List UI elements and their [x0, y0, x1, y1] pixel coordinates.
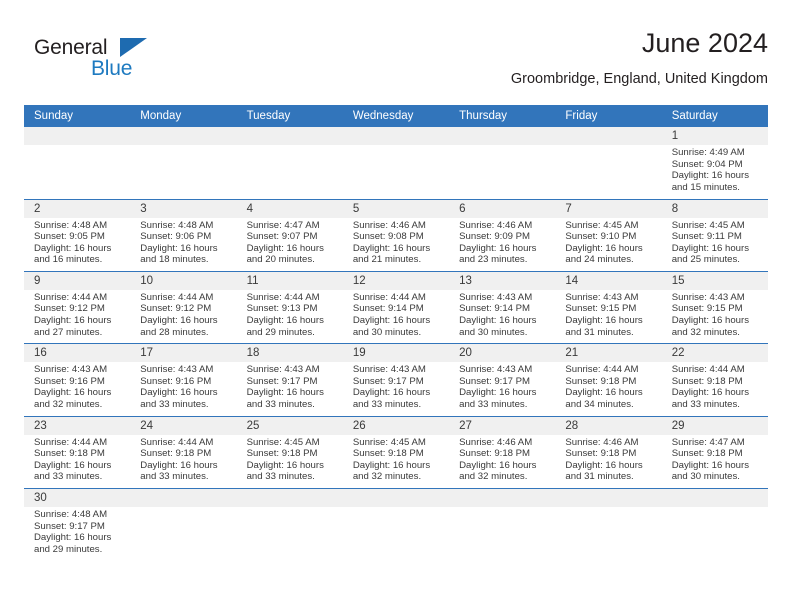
day-number: 29	[662, 417, 768, 435]
daylight-text: Daylight: 16 hours and 34 minutes.	[565, 387, 655, 410]
day-details: Sunrise: 4:43 AMSunset: 9:14 PMDaylight:…	[449, 290, 555, 343]
calendar-day-cell[interactable]: 27Sunrise: 4:46 AMSunset: 9:18 PMDayligh…	[449, 416, 555, 488]
calendar-day-cell[interactable]: 22Sunrise: 4:44 AMSunset: 9:18 PMDayligh…	[662, 344, 768, 416]
sunrise-text: Sunrise: 4:44 AM	[247, 292, 337, 304]
calendar-day-cell[interactable]: 8Sunrise: 4:45 AMSunset: 9:11 PMDaylight…	[662, 199, 768, 271]
logo-text-blue: Blue	[91, 57, 132, 81]
sunset-text: Sunset: 9:18 PM	[247, 448, 337, 460]
day-number: 25	[237, 417, 343, 435]
sunset-text: Sunset: 9:14 PM	[459, 303, 549, 315]
daylight-text: Daylight: 16 hours and 31 minutes.	[565, 315, 655, 338]
daylight-text: Daylight: 16 hours and 29 minutes.	[34, 532, 124, 555]
daylight-text: Daylight: 16 hours and 33 minutes.	[247, 387, 337, 410]
day-number: 23	[24, 417, 130, 435]
day-details	[662, 507, 768, 557]
day-number: 4	[237, 200, 343, 218]
day-number: 22	[662, 344, 768, 362]
day-number: 14	[555, 272, 661, 290]
sunset-text: Sunset: 9:15 PM	[672, 303, 762, 315]
sunset-text: Sunset: 9:05 PM	[34, 231, 124, 243]
daylight-text: Daylight: 16 hours and 18 minutes.	[140, 243, 230, 266]
daylight-text: Daylight: 16 hours and 32 minutes.	[459, 460, 549, 483]
day-number	[130, 489, 236, 507]
sunrise-text: Sunrise: 4:48 AM	[140, 220, 230, 232]
sunset-text: Sunset: 9:15 PM	[565, 303, 655, 315]
page-subtitle-location: Groombridge, England, United Kingdom	[511, 70, 768, 88]
day-details: Sunrise: 4:46 AMSunset: 9:08 PMDaylight:…	[343, 218, 449, 271]
sunset-text: Sunset: 9:09 PM	[459, 231, 549, 243]
sunset-text: Sunset: 9:13 PM	[247, 303, 337, 315]
day-number: 10	[130, 272, 236, 290]
day-number	[662, 489, 768, 507]
day-details: Sunrise: 4:46 AMSunset: 9:09 PMDaylight:…	[449, 218, 555, 271]
day-details: Sunrise: 4:44 AMSunset: 9:12 PMDaylight:…	[130, 290, 236, 343]
daylight-text: Daylight: 16 hours and 33 minutes.	[34, 460, 124, 483]
sunrise-text: Sunrise: 4:43 AM	[140, 364, 230, 376]
day-number: 17	[130, 344, 236, 362]
day-details: Sunrise: 4:46 AMSunset: 9:18 PMDaylight:…	[449, 435, 555, 488]
day-details	[555, 507, 661, 557]
sunset-text: Sunset: 9:04 PM	[672, 159, 762, 171]
calendar-day-cell[interactable]: 5Sunrise: 4:46 AMSunset: 9:08 PMDaylight…	[343, 199, 449, 271]
calendar-day-cell[interactable]: 30Sunrise: 4:48 AMSunset: 9:17 PMDayligh…	[24, 489, 130, 569]
sunrise-text: Sunrise: 4:44 AM	[672, 364, 762, 376]
sunrise-text: Sunrise: 4:43 AM	[672, 292, 762, 304]
day-number: 27	[449, 417, 555, 435]
sunrise-text: Sunrise: 4:46 AM	[459, 437, 549, 449]
calendar-cell-empty	[555, 489, 661, 569]
daylight-text: Daylight: 16 hours and 20 minutes.	[247, 243, 337, 266]
sunset-text: Sunset: 9:12 PM	[140, 303, 230, 315]
weekday-header-thursday: Thursday	[449, 105, 555, 127]
day-number: 9	[24, 272, 130, 290]
daylight-text: Daylight: 16 hours and 31 minutes.	[565, 460, 655, 483]
sunrise-text: Sunrise: 4:46 AM	[459, 220, 549, 232]
day-number: 16	[24, 344, 130, 362]
calendar-week-row: 9Sunrise: 4:44 AMSunset: 9:12 PMDaylight…	[24, 271, 768, 343]
day-details	[449, 145, 555, 195]
sunrise-text: Sunrise: 4:48 AM	[34, 220, 124, 232]
calendar-day-cell[interactable]: 15Sunrise: 4:43 AMSunset: 9:15 PMDayligh…	[662, 271, 768, 343]
daylight-text: Daylight: 16 hours and 27 minutes.	[34, 315, 124, 338]
calendar-day-cell[interactable]: 14Sunrise: 4:43 AMSunset: 9:15 PMDayligh…	[555, 271, 661, 343]
daylight-text: Daylight: 16 hours and 33 minutes.	[459, 387, 549, 410]
sunset-text: Sunset: 9:14 PM	[353, 303, 443, 315]
calendar-day-cell[interactable]: 4Sunrise: 4:47 AMSunset: 9:07 PMDaylight…	[237, 199, 343, 271]
sunset-text: Sunset: 9:08 PM	[353, 231, 443, 243]
day-number: 3	[130, 200, 236, 218]
daylight-text: Daylight: 16 hours and 25 minutes.	[672, 243, 762, 266]
day-details: Sunrise: 4:45 AMSunset: 9:18 PMDaylight:…	[343, 435, 449, 488]
daylight-text: Daylight: 16 hours and 30 minutes.	[459, 315, 549, 338]
sunset-text: Sunset: 9:18 PM	[565, 448, 655, 460]
day-number: 13	[449, 272, 555, 290]
day-details: Sunrise: 4:43 AMSunset: 9:15 PMDaylight:…	[662, 290, 768, 343]
calendar-cell-empty	[237, 127, 343, 199]
daylight-text: Daylight: 16 hours and 33 minutes.	[353, 387, 443, 410]
day-details: Sunrise: 4:45 AMSunset: 9:10 PMDaylight:…	[555, 218, 661, 271]
weekday-header-monday: Monday	[130, 105, 236, 127]
sunrise-text: Sunrise: 4:46 AM	[565, 437, 655, 449]
sunset-text: Sunset: 9:17 PM	[247, 376, 337, 388]
day-details: Sunrise: 4:44 AMSunset: 9:14 PMDaylight:…	[343, 290, 449, 343]
sunset-text: Sunset: 9:11 PM	[672, 231, 762, 243]
calendar-day-cell[interactable]: 12Sunrise: 4:44 AMSunset: 9:14 PMDayligh…	[343, 271, 449, 343]
day-number	[237, 489, 343, 507]
calendar-cell-empty	[662, 489, 768, 569]
day-details	[343, 507, 449, 557]
sunrise-text: Sunrise: 4:46 AM	[353, 220, 443, 232]
calendar-day-cell[interactable]: 28Sunrise: 4:46 AMSunset: 9:18 PMDayligh…	[555, 416, 661, 488]
daylight-text: Daylight: 16 hours and 33 minutes.	[672, 387, 762, 410]
calendar-cell-empty	[24, 127, 130, 199]
day-details	[130, 507, 236, 557]
day-details: Sunrise: 4:48 AMSunset: 9:17 PMDaylight:…	[24, 507, 130, 560]
sunrise-text: Sunrise: 4:47 AM	[672, 437, 762, 449]
daylight-text: Daylight: 16 hours and 21 minutes.	[353, 243, 443, 266]
sunrise-text: Sunrise: 4:45 AM	[247, 437, 337, 449]
sunrise-text: Sunrise: 4:45 AM	[353, 437, 443, 449]
day-number: 26	[343, 417, 449, 435]
calendar-day-cell[interactable]: 13Sunrise: 4:43 AMSunset: 9:14 PMDayligh…	[449, 271, 555, 343]
calendar-day-cell[interactable]: 16Sunrise: 4:43 AMSunset: 9:16 PMDayligh…	[24, 344, 130, 416]
day-details: Sunrise: 4:43 AMSunset: 9:17 PMDaylight:…	[449, 362, 555, 415]
sunset-text: Sunset: 9:16 PM	[140, 376, 230, 388]
sunrise-text: Sunrise: 4:44 AM	[34, 437, 124, 449]
daylight-text: Daylight: 16 hours and 32 minutes.	[353, 460, 443, 483]
day-number: 5	[343, 200, 449, 218]
calendar-day-cell[interactable]: 23Sunrise: 4:44 AMSunset: 9:18 PMDayligh…	[24, 416, 130, 488]
calendar-cell-empty	[237, 489, 343, 569]
day-number: 24	[130, 417, 236, 435]
sunset-text: Sunset: 9:18 PM	[140, 448, 230, 460]
calendar-cell-empty	[449, 489, 555, 569]
day-number	[449, 127, 555, 145]
sunset-text: Sunset: 9:17 PM	[353, 376, 443, 388]
daylight-text: Daylight: 16 hours and 30 minutes.	[353, 315, 443, 338]
sunrise-text: Sunrise: 4:43 AM	[459, 292, 549, 304]
day-number	[237, 127, 343, 145]
page-header: General Blue June 2024 Groombridge, Engl…	[24, 26, 768, 100]
calendar-week-row: 16Sunrise: 4:43 AMSunset: 9:16 PMDayligh…	[24, 344, 768, 416]
day-details	[555, 145, 661, 195]
calendar-cell-empty	[343, 127, 449, 199]
daylight-text: Daylight: 16 hours and 32 minutes.	[672, 315, 762, 338]
sunset-text: Sunset: 9:07 PM	[247, 231, 337, 243]
day-number	[343, 127, 449, 145]
day-details: Sunrise: 4:44 AMSunset: 9:18 PMDaylight:…	[662, 362, 768, 415]
sunset-text: Sunset: 9:18 PM	[565, 376, 655, 388]
calendar-day-cell[interactable]: 7Sunrise: 4:45 AMSunset: 9:10 PMDaylight…	[555, 199, 661, 271]
sunset-text: Sunset: 9:10 PM	[565, 231, 655, 243]
sunrise-text: Sunrise: 4:44 AM	[34, 292, 124, 304]
sunset-text: Sunset: 9:16 PM	[34, 376, 124, 388]
calendar-day-cell[interactable]: 18Sunrise: 4:43 AMSunset: 9:17 PMDayligh…	[237, 344, 343, 416]
calendar-day-cell[interactable]: 19Sunrise: 4:43 AMSunset: 9:17 PMDayligh…	[343, 344, 449, 416]
day-details	[343, 145, 449, 195]
day-details: Sunrise: 4:43 AMSunset: 9:17 PMDaylight:…	[343, 362, 449, 415]
day-details: Sunrise: 4:45 AMSunset: 9:18 PMDaylight:…	[237, 435, 343, 488]
sunset-text: Sunset: 9:17 PM	[459, 376, 549, 388]
day-details: Sunrise: 4:47 AMSunset: 9:18 PMDaylight:…	[662, 435, 768, 488]
logo-triangle-icon	[120, 38, 147, 57]
sunrise-text: Sunrise: 4:43 AM	[34, 364, 124, 376]
daylight-text: Daylight: 16 hours and 30 minutes.	[672, 460, 762, 483]
calendar-day-cell[interactable]: 9Sunrise: 4:44 AMSunset: 9:12 PMDaylight…	[24, 271, 130, 343]
day-details: Sunrise: 4:43 AMSunset: 9:17 PMDaylight:…	[237, 362, 343, 415]
calendar-header-row-group: Sunday Monday Tuesday Wednesday Thursday…	[24, 105, 768, 127]
weekday-header-tuesday: Tuesday	[237, 105, 343, 127]
daylight-text: Daylight: 16 hours and 28 minutes.	[140, 315, 230, 338]
sunset-text: Sunset: 9:06 PM	[140, 231, 230, 243]
calendar-day-cell[interactable]: 26Sunrise: 4:45 AMSunset: 9:18 PMDayligh…	[343, 416, 449, 488]
daylight-text: Daylight: 16 hours and 16 minutes.	[34, 243, 124, 266]
sunrise-text: Sunrise: 4:47 AM	[247, 220, 337, 232]
calendar-week-row: 1Sunrise: 4:49 AMSunset: 9:04 PMDaylight…	[24, 127, 768, 199]
sunset-text: Sunset: 9:18 PM	[672, 376, 762, 388]
weekday-header-saturday: Saturday	[662, 105, 768, 127]
sunset-text: Sunset: 9:18 PM	[34, 448, 124, 460]
calendar-week-row: 30Sunrise: 4:48 AMSunset: 9:17 PMDayligh…	[24, 489, 768, 569]
day-number: 8	[662, 200, 768, 218]
daylight-text: Daylight: 16 hours and 33 minutes.	[140, 460, 230, 483]
day-number: 2	[24, 200, 130, 218]
day-details: Sunrise: 4:44 AMSunset: 9:18 PMDaylight:…	[130, 435, 236, 488]
day-number: 6	[449, 200, 555, 218]
sunrise-text: Sunrise: 4:43 AM	[459, 364, 549, 376]
day-number: 21	[555, 344, 661, 362]
sunset-text: Sunset: 9:18 PM	[459, 448, 549, 460]
calendar-day-cell[interactable]: 1Sunrise: 4:49 AMSunset: 9:04 PMDaylight…	[662, 127, 768, 199]
sunrise-text: Sunrise: 4:43 AM	[247, 364, 337, 376]
day-number: 18	[237, 344, 343, 362]
calendar-cell-empty	[343, 489, 449, 569]
calendar-day-cell[interactable]: 11Sunrise: 4:44 AMSunset: 9:13 PMDayligh…	[237, 271, 343, 343]
day-details: Sunrise: 4:46 AMSunset: 9:18 PMDaylight:…	[555, 435, 661, 488]
page-title: June 2024	[642, 26, 768, 60]
day-number	[449, 489, 555, 507]
day-details: Sunrise: 4:45 AMSunset: 9:11 PMDaylight:…	[662, 218, 768, 271]
day-number	[343, 489, 449, 507]
daylight-text: Daylight: 16 hours and 32 minutes.	[34, 387, 124, 410]
calendar-day-cell[interactable]: 20Sunrise: 4:43 AMSunset: 9:17 PMDayligh…	[449, 344, 555, 416]
general-blue-logo[interactable]: General Blue	[34, 36, 174, 92]
calendar-day-cell[interactable]: 29Sunrise: 4:47 AMSunset: 9:18 PMDayligh…	[662, 416, 768, 488]
day-details: Sunrise: 4:48 AMSunset: 9:05 PMDaylight:…	[24, 218, 130, 271]
day-details	[449, 507, 555, 557]
sunset-text: Sunset: 9:18 PM	[353, 448, 443, 460]
day-details: Sunrise: 4:44 AMSunset: 9:13 PMDaylight:…	[237, 290, 343, 343]
day-number	[555, 489, 661, 507]
day-number	[555, 127, 661, 145]
calendar-page: General Blue June 2024 Groombridge, Engl…	[0, 0, 792, 612]
calendar-day-cell[interactable]: 3Sunrise: 4:48 AMSunset: 9:06 PMDaylight…	[130, 199, 236, 271]
day-details: Sunrise: 4:43 AMSunset: 9:16 PMDaylight:…	[24, 362, 130, 415]
calendar-day-cell[interactable]: 17Sunrise: 4:43 AMSunset: 9:16 PMDayligh…	[130, 344, 236, 416]
day-number	[130, 127, 236, 145]
day-number	[24, 127, 130, 145]
day-number: 15	[662, 272, 768, 290]
day-number: 7	[555, 200, 661, 218]
day-number: 20	[449, 344, 555, 362]
daylight-text: Daylight: 16 hours and 33 minutes.	[247, 460, 337, 483]
sunrise-text: Sunrise: 4:44 AM	[353, 292, 443, 304]
sunrise-text: Sunrise: 4:45 AM	[565, 220, 655, 232]
day-number: 19	[343, 344, 449, 362]
weekday-header-wednesday: Wednesday	[343, 105, 449, 127]
day-number: 11	[237, 272, 343, 290]
sunrise-text: Sunrise: 4:44 AM	[140, 292, 230, 304]
calendar-day-cell[interactable]: 10Sunrise: 4:44 AMSunset: 9:12 PMDayligh…	[130, 271, 236, 343]
day-details: Sunrise: 4:48 AMSunset: 9:06 PMDaylight:…	[130, 218, 236, 271]
sunset-text: Sunset: 9:17 PM	[34, 521, 124, 533]
daylight-text: Daylight: 16 hours and 24 minutes.	[565, 243, 655, 266]
daylight-text: Daylight: 16 hours and 29 minutes.	[247, 315, 337, 338]
calendar-day-cell[interactable]: 6Sunrise: 4:46 AMSunset: 9:09 PMDaylight…	[449, 199, 555, 271]
sunrise-text: Sunrise: 4:43 AM	[565, 292, 655, 304]
day-details: Sunrise: 4:43 AMSunset: 9:15 PMDaylight:…	[555, 290, 661, 343]
sunrise-text: Sunrise: 4:48 AM	[34, 509, 124, 521]
calendar-day-cell[interactable]: 21Sunrise: 4:44 AMSunset: 9:18 PMDayligh…	[555, 344, 661, 416]
day-number: 1	[662, 127, 768, 145]
daylight-text: Daylight: 16 hours and 15 minutes.	[672, 170, 762, 193]
day-details: Sunrise: 4:49 AMSunset: 9:04 PMDaylight:…	[662, 145, 768, 198]
day-details: Sunrise: 4:43 AMSunset: 9:16 PMDaylight:…	[130, 362, 236, 415]
weekday-header-friday: Friday	[555, 105, 661, 127]
calendar-day-cell[interactable]: 2Sunrise: 4:48 AMSunset: 9:05 PMDaylight…	[24, 199, 130, 271]
sunset-text: Sunset: 9:18 PM	[672, 448, 762, 460]
calendar-day-cell[interactable]: 25Sunrise: 4:45 AMSunset: 9:18 PMDayligh…	[237, 416, 343, 488]
sunrise-text: Sunrise: 4:49 AM	[672, 147, 762, 159]
sunrise-text: Sunrise: 4:43 AM	[353, 364, 443, 376]
day-details: Sunrise: 4:44 AMSunset: 9:12 PMDaylight:…	[24, 290, 130, 343]
daylight-text: Daylight: 16 hours and 33 minutes.	[140, 387, 230, 410]
day-number: 12	[343, 272, 449, 290]
day-details	[130, 145, 236, 195]
calendar-body: 1Sunrise: 4:49 AMSunset: 9:04 PMDaylight…	[24, 127, 768, 569]
calendar-cell-empty	[130, 489, 236, 569]
calendar-week-row: 23Sunrise: 4:44 AMSunset: 9:18 PMDayligh…	[24, 416, 768, 488]
day-details: Sunrise: 4:47 AMSunset: 9:07 PMDaylight:…	[237, 218, 343, 271]
sunrise-text: Sunrise: 4:44 AM	[565, 364, 655, 376]
calendar-week-row: 2Sunrise: 4:48 AMSunset: 9:05 PMDaylight…	[24, 199, 768, 271]
sunrise-sunset-calendar-table: Sunday Monday Tuesday Wednesday Thursday…	[24, 105, 768, 569]
weekday-header-row: Sunday Monday Tuesday Wednesday Thursday…	[24, 105, 768, 127]
day-details	[237, 145, 343, 195]
calendar-cell-empty	[130, 127, 236, 199]
calendar-day-cell[interactable]: 24Sunrise: 4:44 AMSunset: 9:18 PMDayligh…	[130, 416, 236, 488]
day-number: 30	[24, 489, 130, 507]
sunrise-text: Sunrise: 4:45 AM	[672, 220, 762, 232]
day-details: Sunrise: 4:44 AMSunset: 9:18 PMDaylight:…	[24, 435, 130, 488]
day-number: 28	[555, 417, 661, 435]
sunrise-text: Sunrise: 4:44 AM	[140, 437, 230, 449]
daylight-text: Daylight: 16 hours and 23 minutes.	[459, 243, 549, 266]
calendar-cell-empty	[555, 127, 661, 199]
day-details	[24, 145, 130, 195]
day-details	[237, 507, 343, 557]
calendar-cell-empty	[449, 127, 555, 199]
sunset-text: Sunset: 9:12 PM	[34, 303, 124, 315]
weekday-header-sunday: Sunday	[24, 105, 130, 127]
day-details: Sunrise: 4:44 AMSunset: 9:18 PMDaylight:…	[555, 362, 661, 415]
